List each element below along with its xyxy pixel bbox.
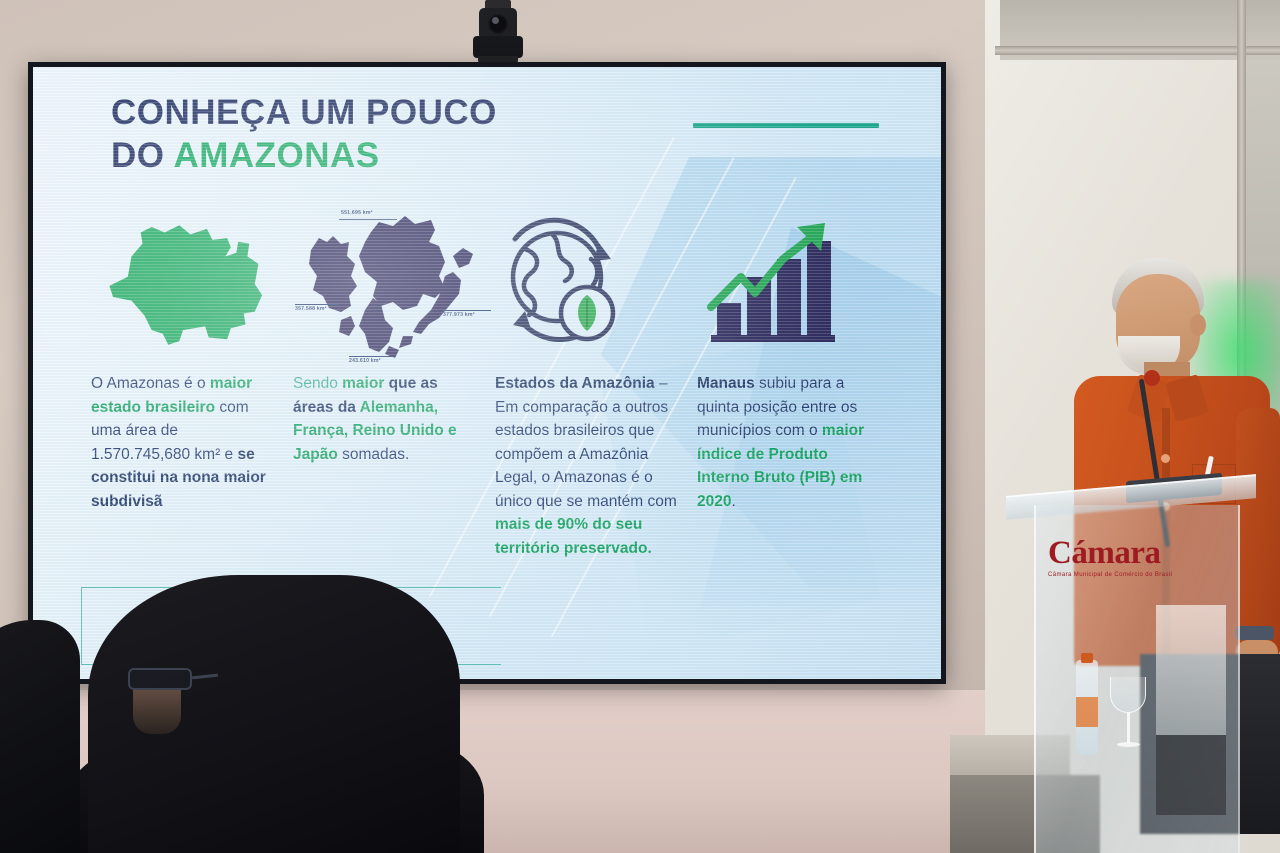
column-4-text: Manaus subiu para a quinta posição entre…: [697, 372, 881, 513]
title-accent-rule: [693, 123, 879, 128]
speaker-shirt-button-1: [1161, 454, 1170, 463]
water-bottle-cap: [1081, 653, 1093, 663]
wine-glass-bowl: [1110, 677, 1146, 713]
area-tag-line-alemanha: [295, 304, 339, 305]
podium-logo: Cámara Câmara Municipal de Comércio do B…: [1048, 537, 1198, 578]
microphone-head-icon: [1144, 370, 1160, 386]
slide-title-line-1: CONHEÇA UM POUCO: [111, 92, 497, 135]
area-tag-line-franca: [339, 219, 397, 220]
slide-columns: O Amazonas é o maior estado brasileiro c…: [91, 197, 901, 560]
slide-title: CONHEÇA UM POUCO DO AMAZONAS: [111, 92, 497, 177]
area-tag-line-japao: [443, 310, 491, 311]
wine-glass-foot: [1117, 742, 1140, 747]
camera-body: [473, 36, 523, 58]
conference-room-scene: CONHEÇA UM POUCO DO AMAZONAS O Amazonas …: [0, 0, 1280, 853]
audience-member-face: [133, 690, 181, 734]
country-areas-comparison-icon: 551.695 km² 357.588 km² 243.610 km² 377.…: [293, 202, 477, 367]
column-1-icon-box: [91, 197, 275, 372]
slide-column-4: Manaus subiu para a quinta posição entre…: [697, 197, 899, 560]
podium-inner-shelf: [1156, 605, 1226, 735]
wine-glass: [1110, 677, 1146, 755]
slide-title-prefix: DO: [111, 136, 173, 175]
wine-glass-stem: [1127, 713, 1130, 743]
area-label-reino-unido: 243.610 km²: [349, 358, 381, 364]
column-1-text: O Amazonas é o maior estado brasileiro c…: [91, 372, 275, 513]
slide-column-3: Estados da Amazônia – Em comparação a ou…: [495, 197, 697, 560]
slide-column-1: O Amazonas é o maior estado brasileiro c…: [91, 197, 293, 560]
camera-lens: [487, 13, 509, 35]
column-4-icon-box: [697, 197, 881, 372]
slide-title-highlight: AMAZONAS: [173, 136, 379, 175]
slide-title-line-2: DO AMAZONAS: [111, 135, 497, 178]
area-label-alemanha: 357.588 km²: [295, 306, 327, 312]
column-3-icon-box: [495, 197, 679, 372]
amazonas-state-map-icon: [91, 215, 275, 355]
globe-recycle-leaf-icon: [495, 215, 625, 355]
audience-member-silhouette-left: [0, 620, 80, 853]
ptz-camera-icon: [467, 0, 529, 70]
podium-logo-subtitle: Câmara Municipal de Comércio do Brasil: [1048, 572, 1198, 578]
area-label-franca: 551.695 km²: [341, 210, 373, 216]
water-bottle-label: [1076, 697, 1098, 727]
speaker-ear: [1190, 314, 1206, 336]
audience-member-glasses-icon: [128, 668, 192, 690]
column-2-icon-box: 551.695 km² 357.588 km² 243.610 km² 377.…: [293, 197, 477, 372]
column-2-text: Sendo maior que as áreas da Alemanha, Fr…: [293, 372, 477, 466]
area-label-japao: 377.973 km²: [443, 312, 475, 318]
column-3-text: Estados da Amazônia – Em comparação a ou…: [495, 372, 679, 560]
slide-column-2: 551.695 km² 357.588 km² 243.610 km² 377.…: [293, 197, 495, 560]
area-tag-line-reino-unido: [349, 356, 395, 357]
growth-bar-chart-icon: [697, 215, 847, 355]
podium-logo-text: Cámara: [1048, 537, 1198, 570]
podium-inner-shadow: [1156, 735, 1226, 815]
acrylic-podium: Cámara Câmara Municipal de Comércio do B…: [1006, 485, 1256, 853]
